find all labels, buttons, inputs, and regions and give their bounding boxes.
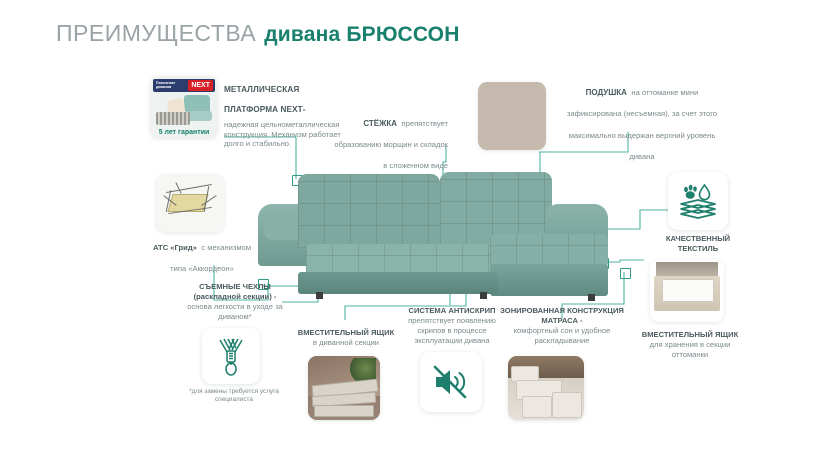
callout-removable-covers: СЪЕМНЫЕ ЧЕХЛЫ (раскладной секции) - осно… [176, 282, 294, 322]
callout-anti-squeak-body: препятствует появлению скрипов в процесс… [396, 316, 508, 346]
callout-pillow-heading: ПОДУШКА [586, 88, 627, 97]
callout-quality-textile-heading: КАЧЕСТВЕННЫЙ ТЕКСТИЛЬ [650, 234, 746, 254]
callout-zoned-mattress-body: комфортный сон и удобное раскладывание [500, 326, 624, 346]
callout-sofa-storage-heading: ВМЕСТИТЕЛЬНЫЙ ЯЩИК [290, 328, 402, 338]
icon-tile-anti-squeak [420, 352, 482, 412]
callout-quilting-heading: СТЁЖКА [363, 119, 397, 128]
page-title-primary: ПРЕИМУЩЕСТВА [56, 20, 256, 46]
photo-atc-grid-frame [156, 174, 224, 232]
callout-pillow: ПОДУШКА на оттоманке мини зафиксирована … [558, 80, 726, 166]
callout-zoned-mattress: ЗОНИРОВАННАЯ КОНСТРУКЦИЯ МАТРАСА - комфо… [500, 306, 624, 345]
page-title: ПРЕИМУЩЕСТВАдивана БРЮССОН [56, 20, 460, 47]
callout-removable-covers-heading2: (раскладной секции) - [176, 292, 294, 302]
icon-tile-zipper [202, 328, 260, 384]
hotspot-marker-mattress [620, 268, 631, 279]
photo-quilted-fabric [478, 82, 546, 150]
zipper-icon [214, 336, 248, 376]
page-title-secondary: дивана БРЮССОН [264, 23, 459, 46]
callout-anti-squeak: СИСТЕМА АНТИСКРИП препятствует появлению… [396, 306, 508, 345]
callout-quality-textile: КАЧЕСТВЕННЫЙ ТЕКСТИЛЬ [650, 234, 746, 254]
callout-platform-next-dash: - [303, 105, 306, 114]
callout-sofa-storage-body: в диванной секции [290, 338, 402, 348]
callout-removable-covers-heading: СЪЕМНЫЕ ЧЕХЛЫ [176, 282, 294, 292]
next-guarantee-label: 5 лет гарантии [150, 129, 218, 136]
photo-sofa-storage-box [308, 356, 380, 420]
callout-removable-covers-body: основа легкости в уходе за диваном* [176, 302, 294, 322]
callout-ottoman-storage-body: для хранения в секции оттоманки [636, 340, 744, 360]
muted-speaker-icon [431, 364, 471, 400]
photo-next-armchair: Поколение диванов NEXT 5 лет гарантии [150, 76, 218, 138]
callout-ottoman-storage-heading: ВМЕСТИТЕЛЬНЫЙ ЯЩИК [636, 330, 744, 340]
next-badge-mark: NEXT [188, 80, 213, 91]
callout-removable-covers-footnote: *для замены требуется услуга специалиста [186, 388, 282, 405]
infographic-canvas: ПРЕИМУЩЕСТВАдивана БРЮССОН [0, 0, 840, 450]
callout-atc-grid-heading: АТС «Грид» [153, 243, 197, 252]
callout-sofa-storage-box: ВМЕСТИТЕЛЬНЫЙ ЯЩИК в диванной секции [290, 328, 402, 348]
sofa-illustration [258, 160, 618, 300]
next-banner-line2: диванов [156, 86, 175, 90]
callout-quilting: СТЁЖКА препятствует образованию морщин и… [330, 112, 448, 174]
callout-platform-next-heading: МЕТАЛЛИЧЕСКАЯ ПЛАТФОРМА NEXT [224, 85, 303, 114]
photo-zoned-mattress [508, 356, 584, 420]
callout-zoned-mattress-heading: ЗОНИРОВАННАЯ КОНСТРУКЦИЯ МАТРАСА - [500, 306, 624, 326]
photo-ottoman-drawer [650, 260, 724, 322]
callout-ottoman-storage-box: ВМЕСТИТЕЛЬНЫЙ ЯЩИК для хранения в секции… [636, 330, 744, 360]
footnote-text: *для замены требуется услуга специалиста [186, 388, 282, 405]
paw-waterdrop-fabric-icon [678, 182, 718, 220]
callout-pillow-body: на оттоманке мини зафиксирована (несъемн… [567, 88, 717, 161]
callout-anti-squeak-heading: СИСТЕМА АНТИСКРИП [396, 306, 508, 316]
callout-atc-grid: АТС «Грид» с механизмом типа «Аккордеон» [146, 236, 258, 278]
icon-tile-quality-textile [668, 172, 728, 230]
